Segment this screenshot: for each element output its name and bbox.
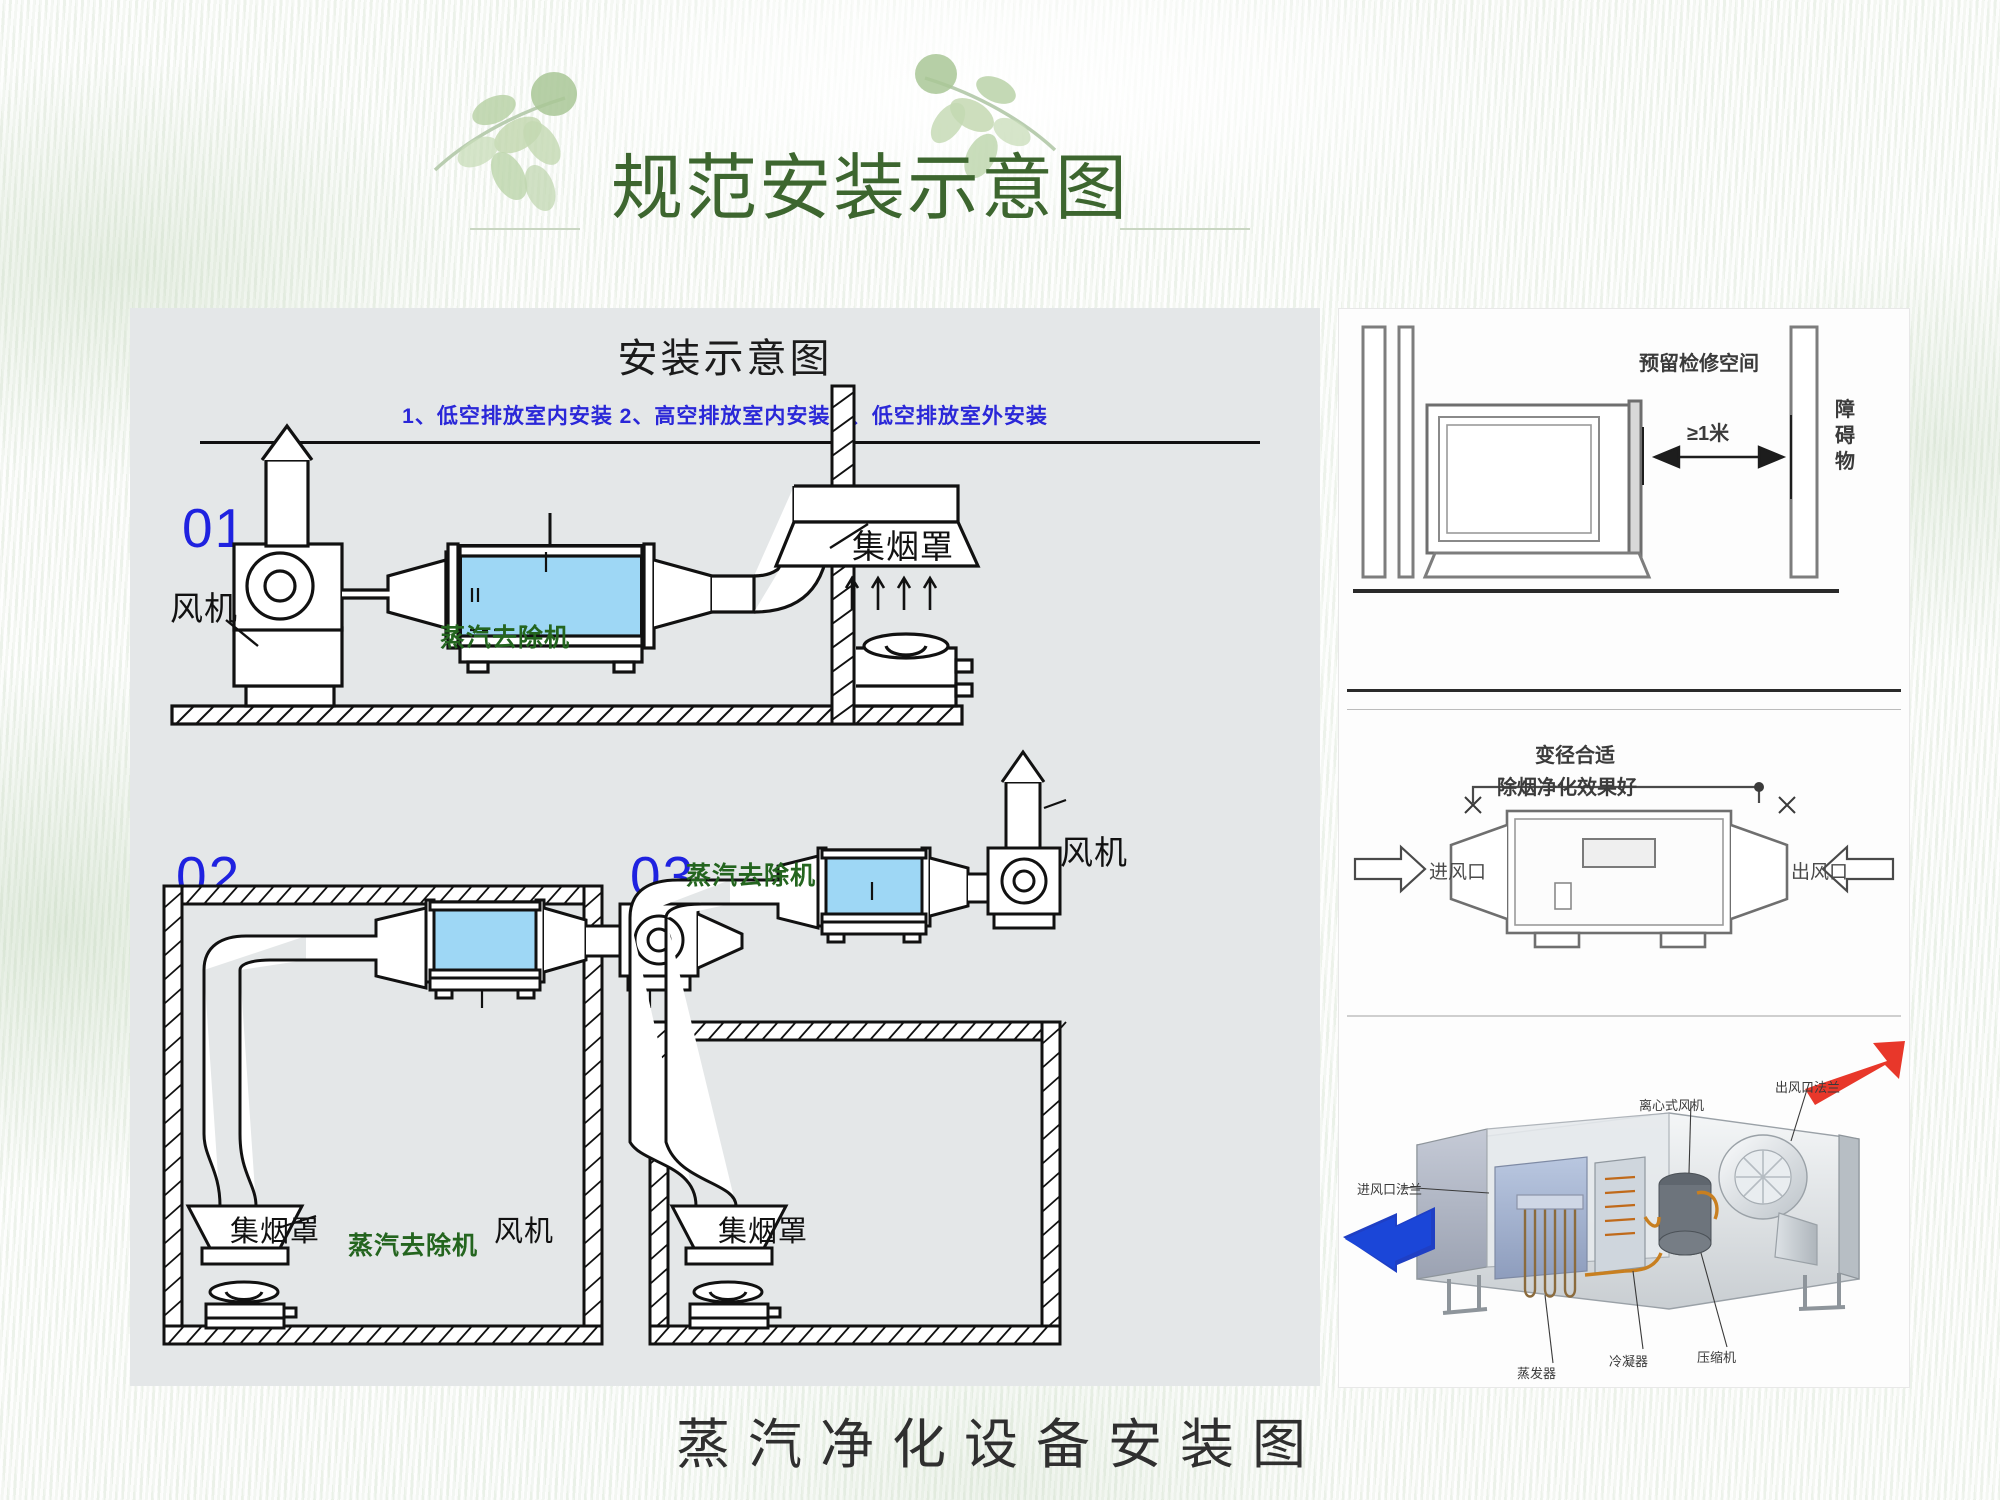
cutaway-centrifugal-fan-label: 离心式风机 <box>1639 1095 1704 1114</box>
header: 规范安装示意图 <box>0 0 2000 250</box>
clearance-dimension: ≥1米 <box>1687 417 1729 446</box>
title-rule-right <box>1120 228 1250 230</box>
installation-diagram-board: 安装示意图 1、低空排放室内安装 2、高空排放室内安装 3、低空排放室外安装 0… <box>130 308 1320 1386</box>
duct-note-line1: 变径合适 <box>1535 739 1615 768</box>
diagram-03-label-steam-remover: 蒸汽去除机 <box>686 856 816 892</box>
cutaway-inlet-flange-label: 进风口法兰 <box>1357 1179 1422 1198</box>
clearance-title: 预留检修空间 <box>1639 347 1759 376</box>
clearance-diagram <box>1339 309 1909 709</box>
cutaway-compressor-label: 压缩机 <box>1697 1347 1736 1366</box>
duct-outlet-label: 出风口 <box>1791 857 1848 884</box>
diagram-03-label-fan: 风机 <box>1060 826 1128 874</box>
cutaway-evaporator-label: 蒸发器 <box>1517 1363 1556 1382</box>
duct-inlet-label: 进风口 <box>1429 857 1486 884</box>
diagram-03-label-hood: 集烟罩 <box>718 1208 808 1250</box>
page-title: 规范安装示意图 <box>560 150 1180 228</box>
panel-divider-1 <box>1347 689 1901 692</box>
cutaway-render <box>1339 1017 1909 1387</box>
clearance-obstacle-label: 障碍物 <box>1833 397 1857 475</box>
cutaway-condenser-label: 冷凝器 <box>1609 1351 1648 1370</box>
footer-caption: 蒸汽净化设备安装图 <box>0 1400 2000 1479</box>
cutaway-outlet-flange-label: 出风口法兰 <box>1775 1077 1840 1096</box>
duct-note-line2: 除烟净化效果好 <box>1497 771 1637 800</box>
reference-panel: 预留检修空间 ≥1米 障碍物 变径合适 <box>1338 308 1910 1388</box>
title-rule-left <box>470 228 580 230</box>
